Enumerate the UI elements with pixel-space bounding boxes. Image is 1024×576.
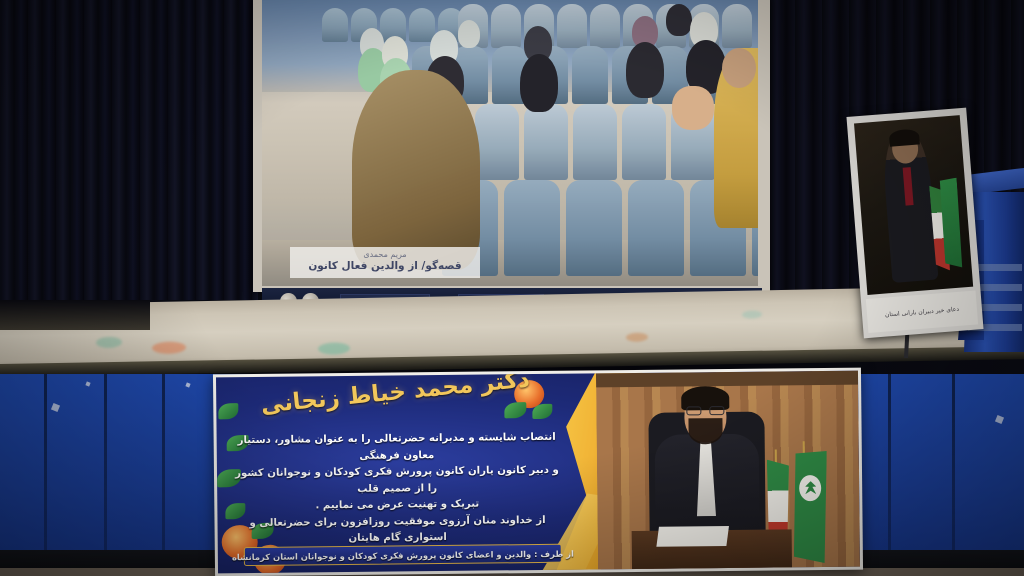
portrait-paper — [656, 526, 729, 547]
projection-screen: مریم محمدی قصه‌گو/ از والدین فعال کانون — [253, 0, 770, 292]
skirt-speck — [995, 415, 1004, 424]
kanoon-green-flag-icon — [793, 451, 828, 563]
banner-footer-text: از طرف : والدین و اعضای کانون پرورش فکری… — [232, 548, 574, 562]
portrait-caption-text: دعای خیر دبیران بارانی استان — [885, 305, 960, 318]
floor-paint-spot — [626, 333, 648, 342]
projected-audience-person — [458, 20, 480, 48]
skirt-speck — [85, 381, 90, 386]
stage-curtain-left — [0, 0, 258, 300]
projected-person-head — [722, 48, 756, 88]
skirt-seam — [162, 374, 165, 550]
projected-foreground-person — [352, 70, 480, 270]
stage-photo-scene: مریم محمدی قصه‌گو/ از والدین فعال کانون — [0, 0, 1024, 576]
portrait-hair — [889, 128, 920, 146]
skirt-seam — [952, 374, 955, 550]
banner-body-line: انتصاب شایسته و مدبرانه حضرتعالی را به ع… — [231, 430, 563, 467]
skirt-speck — [185, 382, 190, 387]
projection-subtitle-role: قصه‌گو/ از والدین فعال کانون — [296, 260, 474, 273]
floor-paint-spot — [318, 342, 350, 355]
projected-seat-row — [442, 180, 758, 276]
banner-background: دکتر محمد خیاط زنجانی انتصاب شایسته و مد… — [216, 371, 860, 574]
eyeglasses-icon — [686, 406, 724, 415]
congratulation-banner: دکتر محمد خیاط زنجانی انتصاب شایسته و مد… — [213, 368, 863, 576]
projected-audience-person — [520, 54, 558, 112]
projected-audience-person — [626, 42, 664, 98]
skirt-seam — [44, 374, 47, 550]
projected-image: مریم محمدی قصه‌گو/ از والدین فعال کانون — [262, 0, 758, 286]
floor-paint-spot — [152, 341, 186, 354]
flag-pole — [775, 449, 777, 463]
portrait-wall-top-trim — [596, 371, 858, 388]
banner-body-line: و دبیر کانون یاران کانون پرورش فکری کودک… — [231, 463, 563, 500]
skirt-seam — [104, 374, 107, 550]
banner-portrait-photo — [596, 371, 860, 574]
framed-portrait-on-easel: دعای خیر دبیران بارانی استان — [846, 108, 983, 339]
floor-paint-spot — [742, 310, 762, 318]
portrait-photo — [854, 115, 973, 295]
skirt-seam — [888, 374, 891, 550]
skirt-speck — [51, 403, 60, 412]
projected-person-hand — [672, 86, 714, 130]
projection-subtitle-name: مریم محمدی — [296, 250, 474, 260]
projection-subtitle: مریم محمدی قصه‌گو/ از والدین فعال کانون — [290, 247, 480, 278]
banner-footer-strip: از طرف : والدین و اعضای کانون پرورش فکری… — [244, 544, 562, 566]
floor-paint-spot — [96, 337, 122, 348]
projected-audience-person — [666, 4, 692, 36]
stage-floor-shadow-left — [0, 300, 150, 330]
